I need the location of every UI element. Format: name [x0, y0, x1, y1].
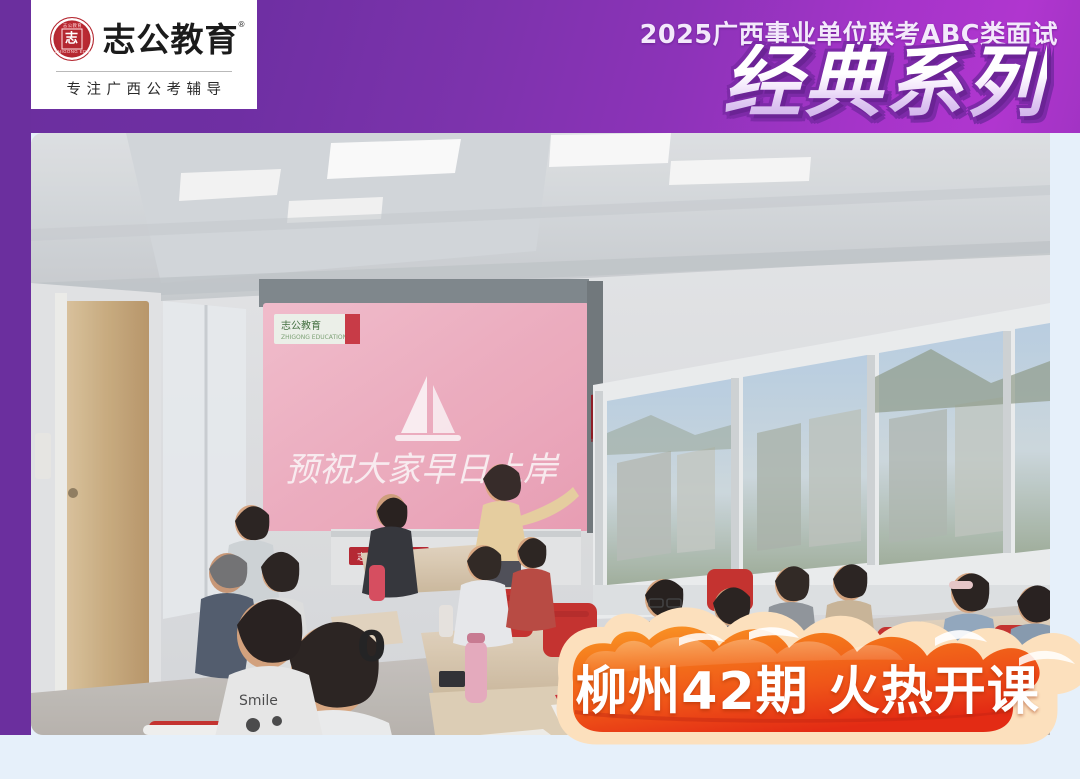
- round-seal-stamp-icon: 志公教育 志 ZHIGONG EDU: [50, 17, 94, 61]
- brand-wordmark: 志公教育 ®: [103, 23, 239, 56]
- status-badge: 柳州42期 火热开课: [553, 594, 1080, 746]
- status-badge-label: 柳州42期 火热开课: [553, 594, 1048, 746]
- poster-canvas: 志公教育 志 ZHIGONG EDU 志公教育 ® 专注广西公考辅导 2025广…: [0, 0, 1080, 779]
- seal-arc-bottom-text: ZHIGONG EDU: [51, 50, 95, 54]
- brand-divider: [56, 71, 232, 72]
- brand-logo-row: 志公教育 志 ZHIGONG EDU 志公教育 ®: [50, 14, 239, 64]
- brand-wordmark-text: 志公教育: [103, 20, 239, 59]
- page-title: 经典系列: [723, 44, 1047, 122]
- brand-logo-card: 志公教育 志 ZHIGONG EDU 志公教育 ® 专注广西公考辅导: [31, 0, 257, 109]
- brand-tagline: 专注广西公考辅导: [62, 78, 227, 99]
- registered-trademark-mark: ®: [238, 21, 247, 29]
- seal-center-glyph: 志: [61, 29, 82, 50]
- left-purple-rail: [0, 0, 31, 779]
